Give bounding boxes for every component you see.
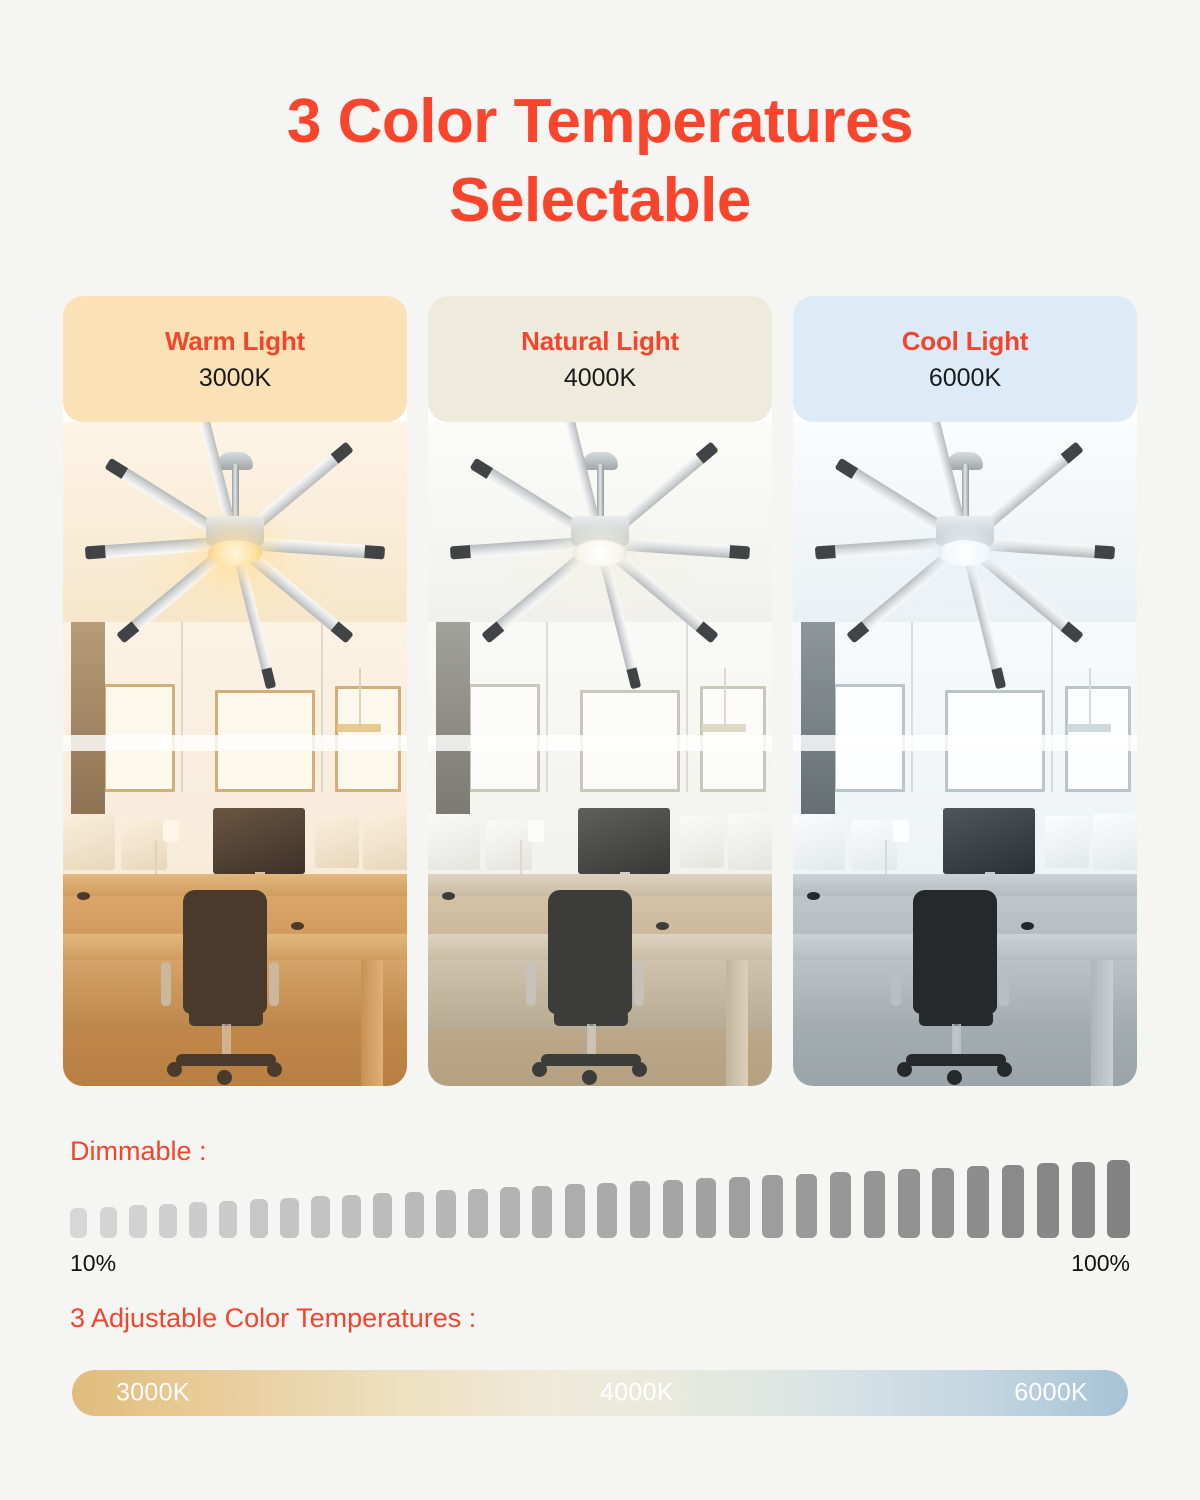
- gradient-stop-3000k: 3000K: [116, 1379, 190, 1408]
- desk-lamp-shade: [893, 820, 909, 842]
- color-temperature-cards: Warm Light3000KNatural Light4000KCool Li…: [63, 296, 1137, 1086]
- chair-caster-center: [217, 1070, 232, 1085]
- chair-arm-left: [161, 962, 171, 1006]
- gradient-stop-4000k: 4000K: [600, 1379, 674, 1408]
- fan-led-light: [573, 540, 627, 566]
- pendant-cord: [1089, 668, 1091, 726]
- color-temperature-card-4000k[interactable]: Natural Light4000K: [428, 296, 772, 1086]
- dimmable-bar: [189, 1202, 207, 1238]
- dimmable-bar: [468, 1189, 487, 1239]
- card-title: Warm Light: [165, 326, 305, 357]
- ceiling-fan: [75, 440, 395, 630]
- monitor-far-right: [680, 816, 724, 868]
- mouse-far: [77, 892, 90, 900]
- dimmable-bar-chart: [70, 1160, 1130, 1238]
- dimmable-bar: [597, 1183, 617, 1239]
- color-temperature-label: 3 Adjustable Color Temperatures :: [70, 1303, 476, 1334]
- dimmable-bar: [630, 1181, 650, 1238]
- dimmable-bar: [500, 1187, 520, 1238]
- glass-partition-band: [428, 735, 772, 751]
- chair-arm-right: [269, 962, 279, 1006]
- pendant-cord: [724, 668, 726, 726]
- desk-lamp-shade: [163, 820, 179, 842]
- dimmable-bar: [898, 1169, 920, 1238]
- structural-column: [71, 622, 105, 832]
- monitor-far-right: [1045, 816, 1089, 868]
- mouse-far: [442, 892, 455, 900]
- color-temperature-card-6000k[interactable]: Cool Light6000K: [793, 296, 1137, 1086]
- ceiling-fan: [440, 440, 760, 630]
- chair-backrest: [548, 890, 632, 1014]
- dimmable-bar: [663, 1180, 684, 1239]
- dimmable-bar: [311, 1196, 330, 1238]
- card-header: Warm Light3000K: [63, 296, 407, 422]
- dimmable-bar: [762, 1175, 783, 1238]
- glass-partition-band: [63, 735, 407, 751]
- desk-leg-right: [361, 960, 383, 1086]
- chair-arm-right: [999, 962, 1009, 1006]
- dimmable-bar: [1037, 1163, 1060, 1238]
- chair-caster-right: [267, 1062, 282, 1077]
- dimmable-bar: [342, 1195, 361, 1239]
- dimmable-bar: [1002, 1165, 1024, 1239]
- structural-column: [436, 622, 470, 832]
- mouse: [656, 922, 669, 930]
- chair-base-star: [906, 1054, 1006, 1066]
- color-temperature-gradient-bar: 3000K 4000K 6000K: [72, 1370, 1128, 1416]
- chair-arm-left: [891, 962, 901, 1006]
- color-temperature-card-3000k[interactable]: Warm Light3000K: [63, 296, 407, 1086]
- chair-backrest: [183, 890, 267, 1014]
- chair-base-star: [176, 1054, 276, 1066]
- dimmable-bar: [219, 1201, 237, 1239]
- gradient-stop-6000k: 6000K: [1014, 1379, 1088, 1408]
- fan-led-light: [938, 540, 992, 566]
- desk-leg-right: [726, 960, 748, 1086]
- monitor-far-left: [63, 814, 115, 870]
- dimmable-bar: [967, 1166, 989, 1238]
- monitor-far-right2: [1093, 814, 1137, 870]
- window-mullion-1: [911, 622, 913, 792]
- dimmable-bar: [280, 1198, 298, 1239]
- dimmable-bar: [796, 1174, 817, 1239]
- title-line-1: 3 Color Temperatures: [0, 82, 1200, 161]
- dimmable-bar: [932, 1168, 954, 1239]
- dimmable-bar: [864, 1171, 886, 1239]
- mouse: [1021, 922, 1034, 930]
- scene-photo: [428, 422, 772, 1086]
- office-scene: [428, 422, 772, 1086]
- card-title: Cool Light: [902, 326, 1029, 357]
- mouse-far: [807, 892, 820, 900]
- card-header: Natural Light4000K: [428, 296, 772, 422]
- window-mullion-2: [1051, 622, 1053, 792]
- title-line-2: Selectable: [0, 161, 1200, 240]
- card-kelvin-value: 6000K: [929, 364, 1001, 393]
- chair-arm-left: [526, 962, 536, 1006]
- dimmable-bar: [159, 1204, 177, 1239]
- monitor-far-left: [793, 814, 845, 870]
- ceiling-fan: [805, 440, 1125, 630]
- monitor-center-dark: [943, 808, 1035, 874]
- window-mullion-1: [181, 622, 183, 792]
- monitor-far-left2: [851, 820, 897, 870]
- chair-caster-center: [947, 1070, 962, 1085]
- window-mullion-1: [546, 622, 548, 792]
- page-title: 3 Color Temperatures Selectable: [0, 82, 1200, 241]
- dimmable-bar: [729, 1177, 750, 1239]
- monitor-far-right2: [728, 814, 772, 870]
- chair-caster-left: [897, 1062, 912, 1077]
- dimmable-bar: [1072, 1162, 1095, 1239]
- dimmable-max-label: 100%: [1071, 1250, 1130, 1277]
- desk-leg-right: [1091, 960, 1113, 1086]
- monitor-far-right2: [363, 814, 407, 870]
- dimmable-bar: [100, 1207, 117, 1239]
- mouse: [291, 922, 304, 930]
- monitor-far-left: [428, 814, 480, 870]
- pendant-light: [337, 724, 381, 732]
- dimmable-bar: [250, 1199, 268, 1238]
- monitor-center-dark: [213, 808, 305, 874]
- card-kelvin-value: 3000K: [199, 364, 271, 393]
- monitor-far-right: [315, 816, 359, 868]
- chair-backrest: [913, 890, 997, 1014]
- pendant-light: [702, 724, 746, 732]
- monitor-center-dark: [578, 808, 670, 874]
- chair-arm-right: [634, 962, 644, 1006]
- dimmable-bar: [129, 1205, 146, 1238]
- chair-base-star: [541, 1054, 641, 1066]
- office-scene: [63, 422, 407, 1086]
- monitor-far-left2: [121, 820, 167, 870]
- dimmable-bar: [405, 1192, 424, 1239]
- dimmable-bar: [532, 1186, 552, 1239]
- scene-photo: [63, 422, 407, 1086]
- office-scene: [793, 422, 1137, 1086]
- fan-led-light: [208, 540, 262, 566]
- card-header: Cool Light6000K: [793, 296, 1137, 422]
- dimmable-bar: [696, 1178, 717, 1238]
- chair-caster-left: [167, 1062, 182, 1077]
- dimmable-bar: [436, 1190, 455, 1238]
- card-title: Natural Light: [521, 326, 679, 357]
- dimmable-bar: [1107, 1160, 1130, 1238]
- card-kelvin-value: 4000K: [564, 364, 636, 393]
- glass-partition-band: [793, 735, 1137, 751]
- dimmable-min-label: 10%: [70, 1250, 116, 1277]
- window-mullion-2: [321, 622, 323, 792]
- chair-caster-center: [582, 1070, 597, 1085]
- scene-photo: [793, 422, 1137, 1086]
- dimmable-bar: [830, 1172, 852, 1238]
- pendant-light: [1067, 724, 1111, 732]
- dimmable-bar: [373, 1193, 392, 1238]
- dimmable-bar: [565, 1184, 585, 1238]
- monitor-far-left2: [486, 820, 532, 870]
- chair-caster-right: [632, 1062, 647, 1077]
- structural-column: [801, 622, 835, 832]
- dimmable-bar: [70, 1208, 87, 1238]
- chair-caster-right: [997, 1062, 1012, 1077]
- desk-lamp-shade: [528, 820, 544, 842]
- pendant-cord: [359, 668, 361, 726]
- window-mullion-2: [686, 622, 688, 792]
- chair-caster-left: [532, 1062, 547, 1077]
